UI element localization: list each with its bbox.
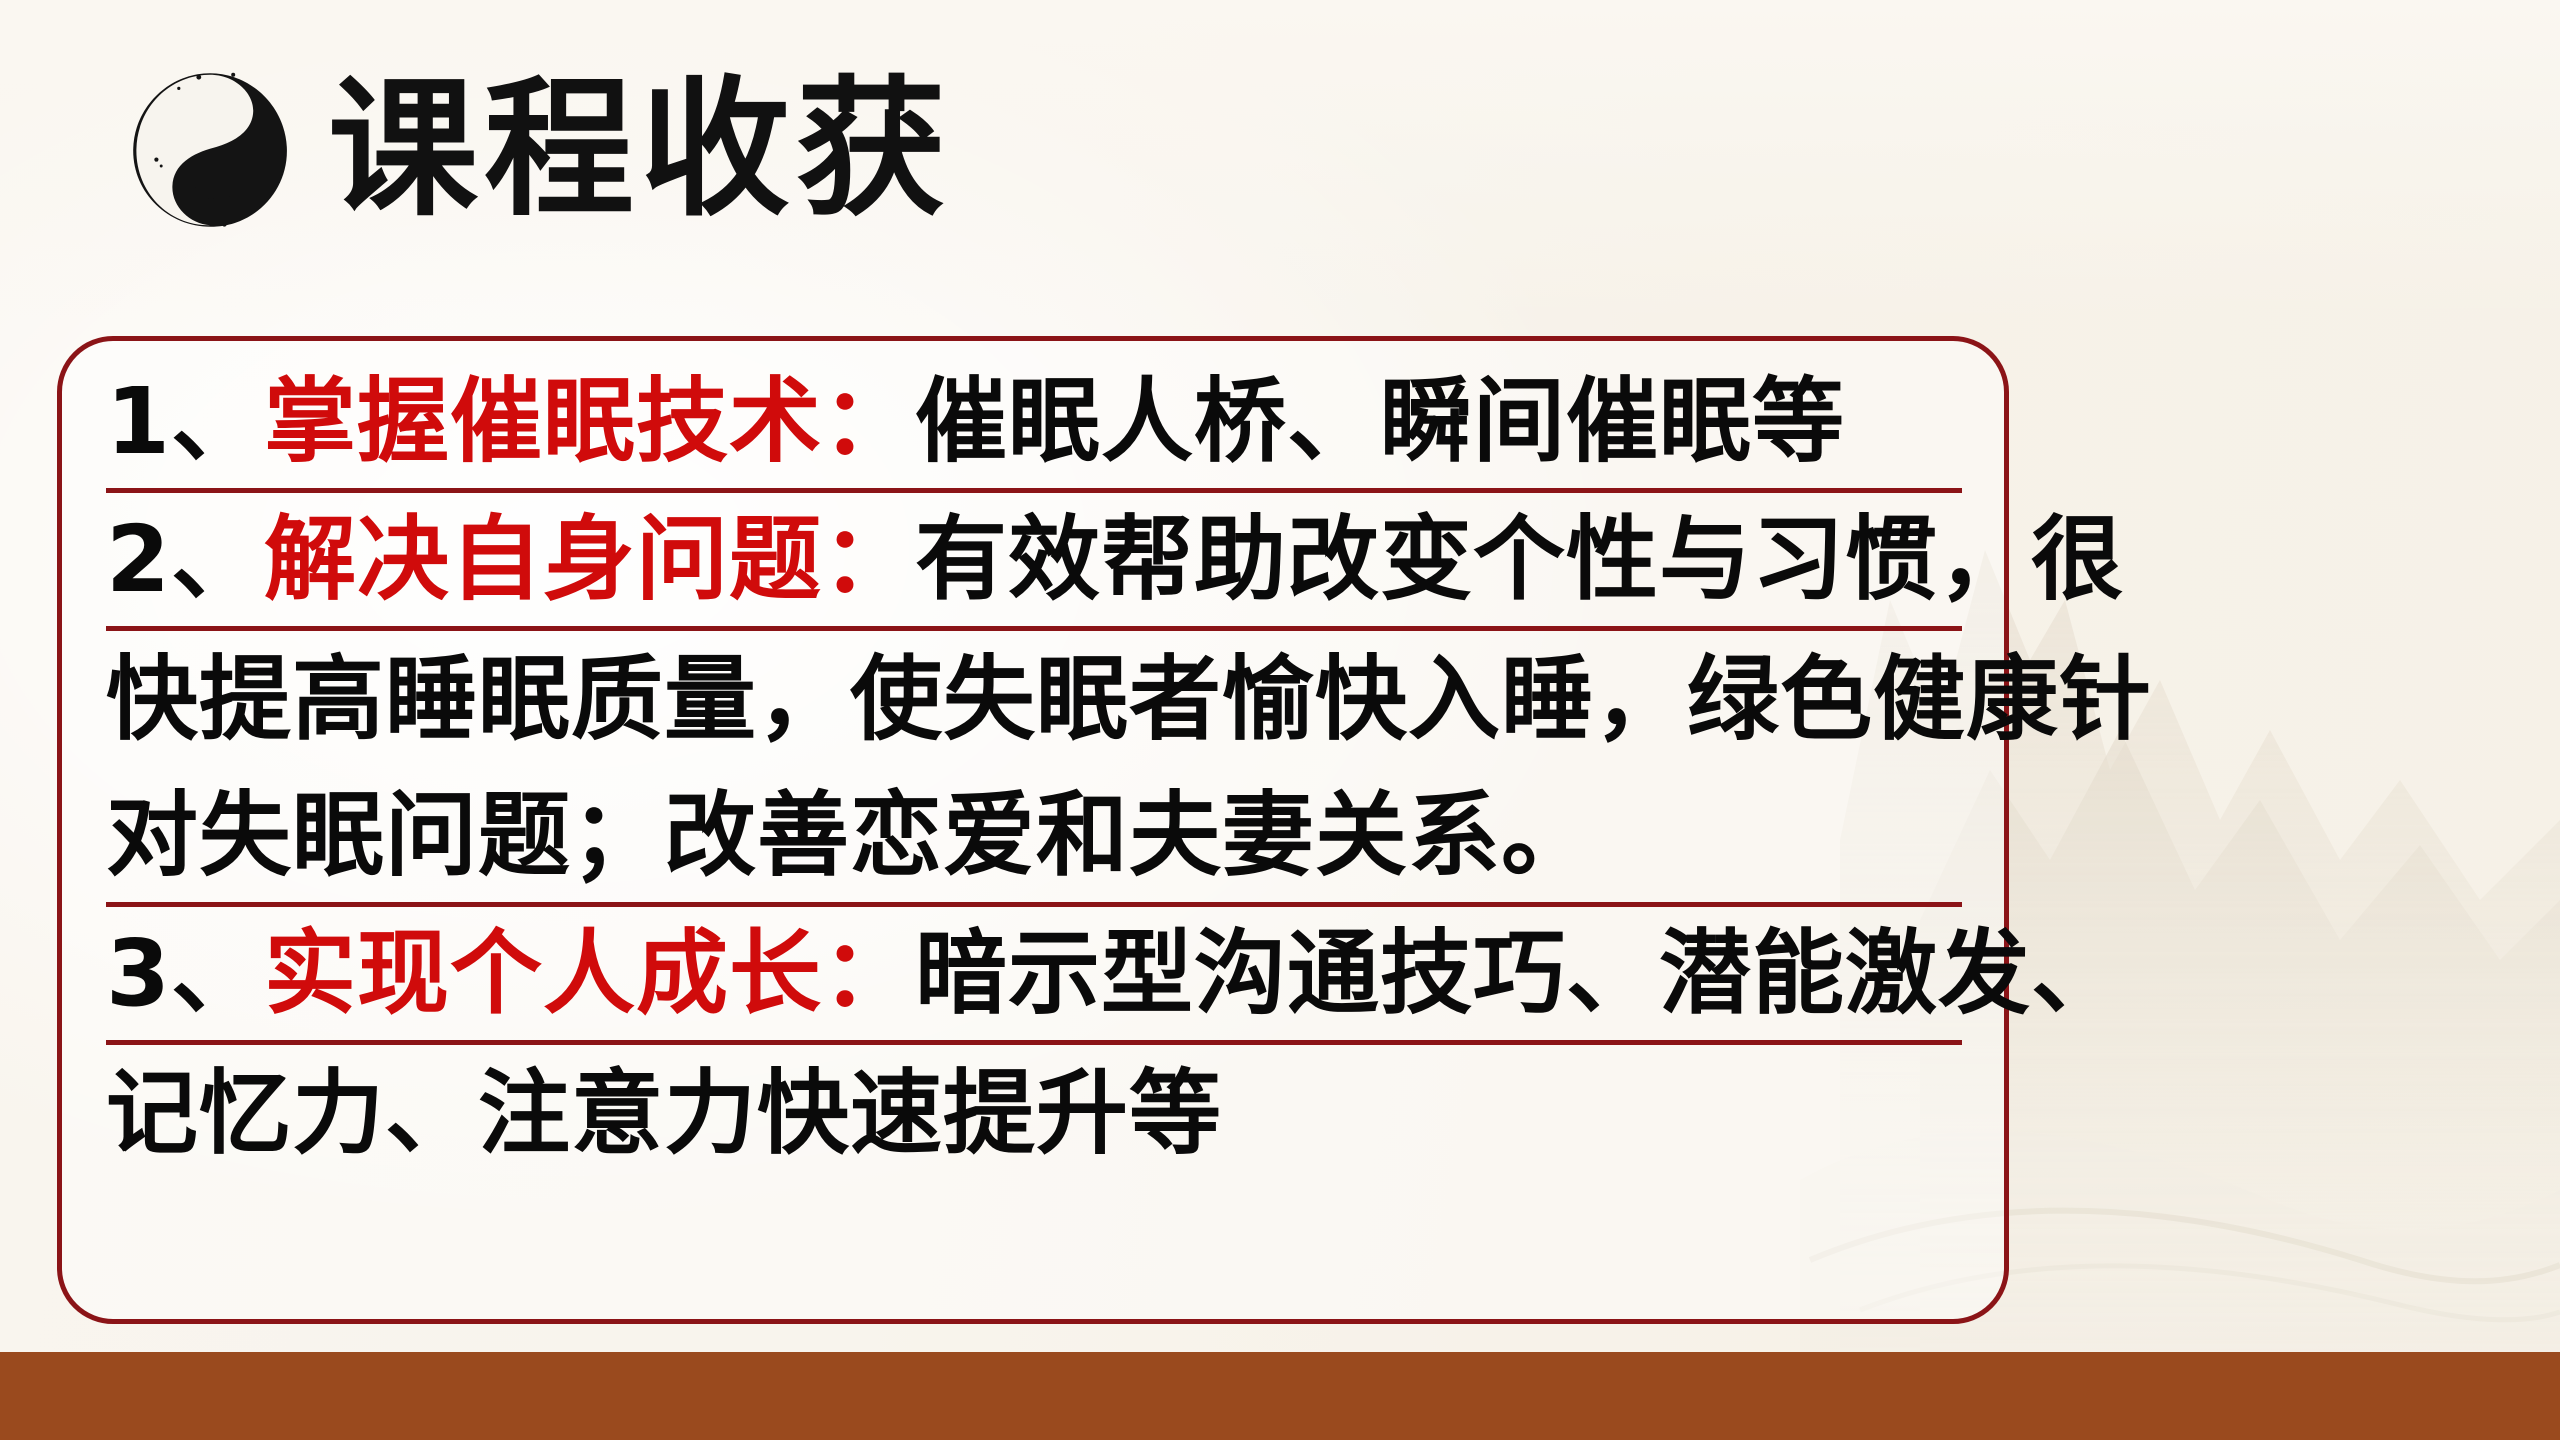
row-2-highlight: 解决自身问题： <box>264 506 915 613</box>
content-row-1: 1、掌握催眠技术：催眠人桥、瞬间催眠等 <box>106 355 1962 493</box>
content-row-6: 记忆力、注意力快速提升等 <box>106 1045 1962 1183</box>
content-row-4: 对失眠问题；改善恋爱和夫妻关系。 <box>106 769 1962 907</box>
content-row-3-text: 快提高睡眠质量，使失眠者愉快入睡，绿色健康针 <box>106 654 2152 746</box>
row-1-highlight: 掌握催眠技术： <box>264 368 915 475</box>
content-rows-container: 1、掌握催眠技术：催眠人桥、瞬间催眠等 2、解决自身问题：有效帮助改变个性与习惯… <box>62 341 2004 1319</box>
bottom-accent-bar <box>0 1352 2560 1440</box>
row-4-body: 对失眠问题；改善恋爱和夫妻关系。 <box>106 782 1594 889</box>
taiji-yin-yang-icon <box>130 70 290 230</box>
content-row-1-text: 1、掌握催眠技术：催眠人桥、瞬间催眠等 <box>106 376 1845 468</box>
content-card: 1、掌握催眠技术：催眠人桥、瞬间催眠等 2、解决自身问题：有效帮助改变个性与习惯… <box>57 336 2009 1324</box>
row-5-number: 3、 <box>106 920 264 1027</box>
slide-header: 课程收获 <box>130 60 952 240</box>
row-6-body: 记忆力、注意力快速提升等 <box>106 1060 1222 1167</box>
row-5-highlight: 实现个人成长： <box>264 920 915 1027</box>
page-title: 课程收获 <box>328 75 952 225</box>
row-5-body: 暗示型沟通技巧、潜能激发、 <box>915 920 2124 1027</box>
content-row-3: 快提高睡眠质量，使失眠者愉快入睡，绿色健康针 <box>106 631 1962 769</box>
content-row-4-text: 对失眠问题；改善恋爱和夫妻关系。 <box>106 790 1594 882</box>
row-2-body: 有效帮助改变个性与习惯，很 <box>915 506 2124 613</box>
row-1-body: 催眠人桥、瞬间催眠等 <box>915 368 1845 475</box>
content-row-2-text: 2、解决自身问题：有效帮助改变个性与习惯，很 <box>106 514 2124 606</box>
row-1-number: 1、 <box>106 368 264 475</box>
content-row-5: 3、实现个人成长：暗示型沟通技巧、潜能激发、 <box>106 907 1962 1045</box>
row-3-body: 快提高睡眠质量，使失眠者愉快入睡，绿色健康针 <box>106 646 2152 753</box>
content-row-6-text: 记忆力、注意力快速提升等 <box>106 1068 1222 1160</box>
content-row-5-text: 3、实现个人成长：暗示型沟通技巧、潜能激发、 <box>106 928 2124 1020</box>
row-2-number: 2、 <box>106 506 264 613</box>
content-row-2: 2、解决自身问题：有效帮助改变个性与习惯，很 <box>106 493 1962 631</box>
slide-canvas: 课程收获 1、掌握催眠技术：催眠人桥、瞬间催眠等 2、解决自身问题：有效帮助改变… <box>0 0 2560 1440</box>
